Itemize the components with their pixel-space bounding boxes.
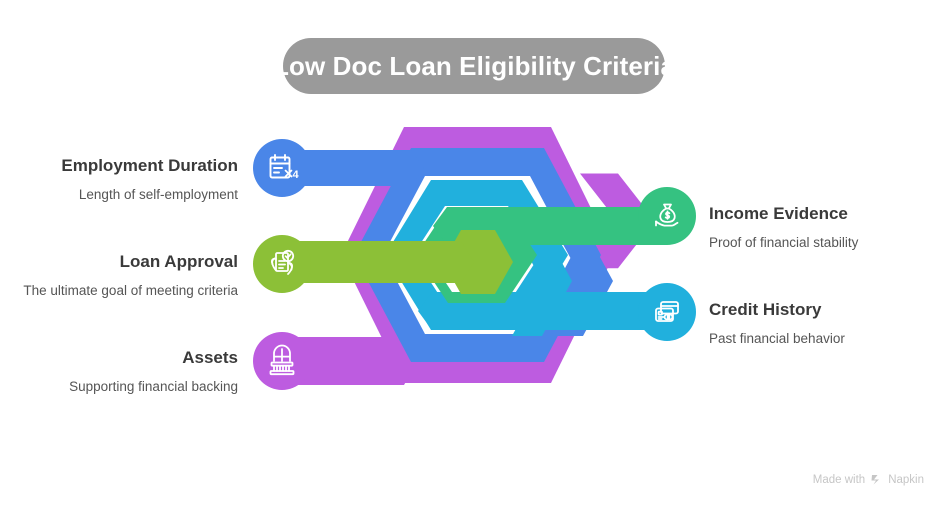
bank-building-icon bbox=[265, 344, 299, 378]
svg-text:4: 4 bbox=[293, 169, 300, 181]
label-subtitle-employment-duration: Length of self-employment bbox=[8, 185, 238, 204]
label-title-loan-approval: Loan Approval bbox=[8, 251, 238, 272]
label-block-assets: Assets Supporting financial backing bbox=[8, 347, 238, 396]
label-block-income-evidence: Income Evidence Proof of financial stabi… bbox=[709, 203, 941, 252]
label-block-employment-duration: Employment Duration Length of self-emplo… bbox=[8, 155, 238, 204]
label-block-credit-history: Credit History Past financial behavior bbox=[709, 299, 941, 348]
label-block-loan-approval: Loan Approval The ultimate goal of meeti… bbox=[8, 251, 238, 300]
napkin-watermark: Made with Napkin bbox=[813, 473, 924, 486]
watermark-text: Made with bbox=[813, 474, 865, 486]
credit-cards-icon bbox=[650, 295, 684, 329]
hands-document-check-icon bbox=[264, 246, 300, 282]
label-title-assets: Assets bbox=[8, 347, 238, 368]
napkin-logo-icon bbox=[870, 473, 883, 486]
icon-node-assets[interactable] bbox=[253, 332, 311, 390]
icon-node-income-evidence[interactable] bbox=[638, 187, 696, 245]
label-subtitle-income-evidence: Proof of financial stability bbox=[709, 233, 941, 252]
label-title-employment-duration: Employment Duration bbox=[8, 155, 238, 176]
label-subtitle-loan-approval: The ultimate goal of meeting criteria bbox=[8, 281, 238, 300]
icon-node-loan-approval[interactable] bbox=[253, 235, 311, 293]
label-subtitle-assets: Supporting financial backing bbox=[8, 377, 238, 396]
watermark-brand: Napkin bbox=[888, 474, 924, 486]
label-title-income-evidence: Income Evidence bbox=[709, 203, 941, 224]
label-title-credit-history: Credit History bbox=[709, 299, 941, 320]
hand-money-bag-icon bbox=[650, 199, 684, 233]
icon-node-credit-history[interactable] bbox=[638, 283, 696, 341]
label-subtitle-credit-history: Past financial behavior bbox=[709, 329, 941, 348]
calendar-x4-icon: 4 bbox=[265, 151, 299, 185]
icon-node-employment-duration[interactable]: 4 bbox=[253, 139, 311, 197]
